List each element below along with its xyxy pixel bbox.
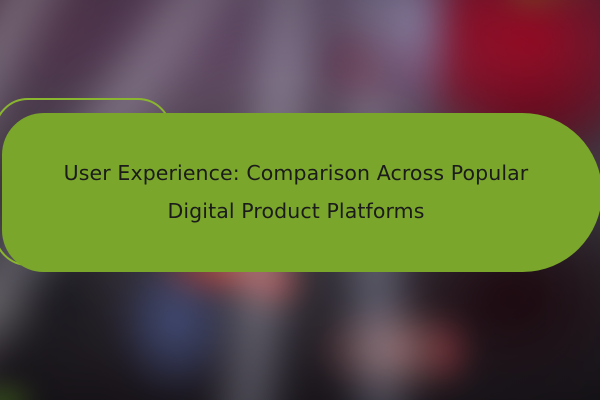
title-card: User Experience: Comparison Across Popul… bbox=[2, 113, 600, 272]
title-slide: User Experience: Comparison Across Popul… bbox=[0, 0, 600, 400]
page-title: User Experience: Comparison Across Popul… bbox=[46, 155, 546, 231]
